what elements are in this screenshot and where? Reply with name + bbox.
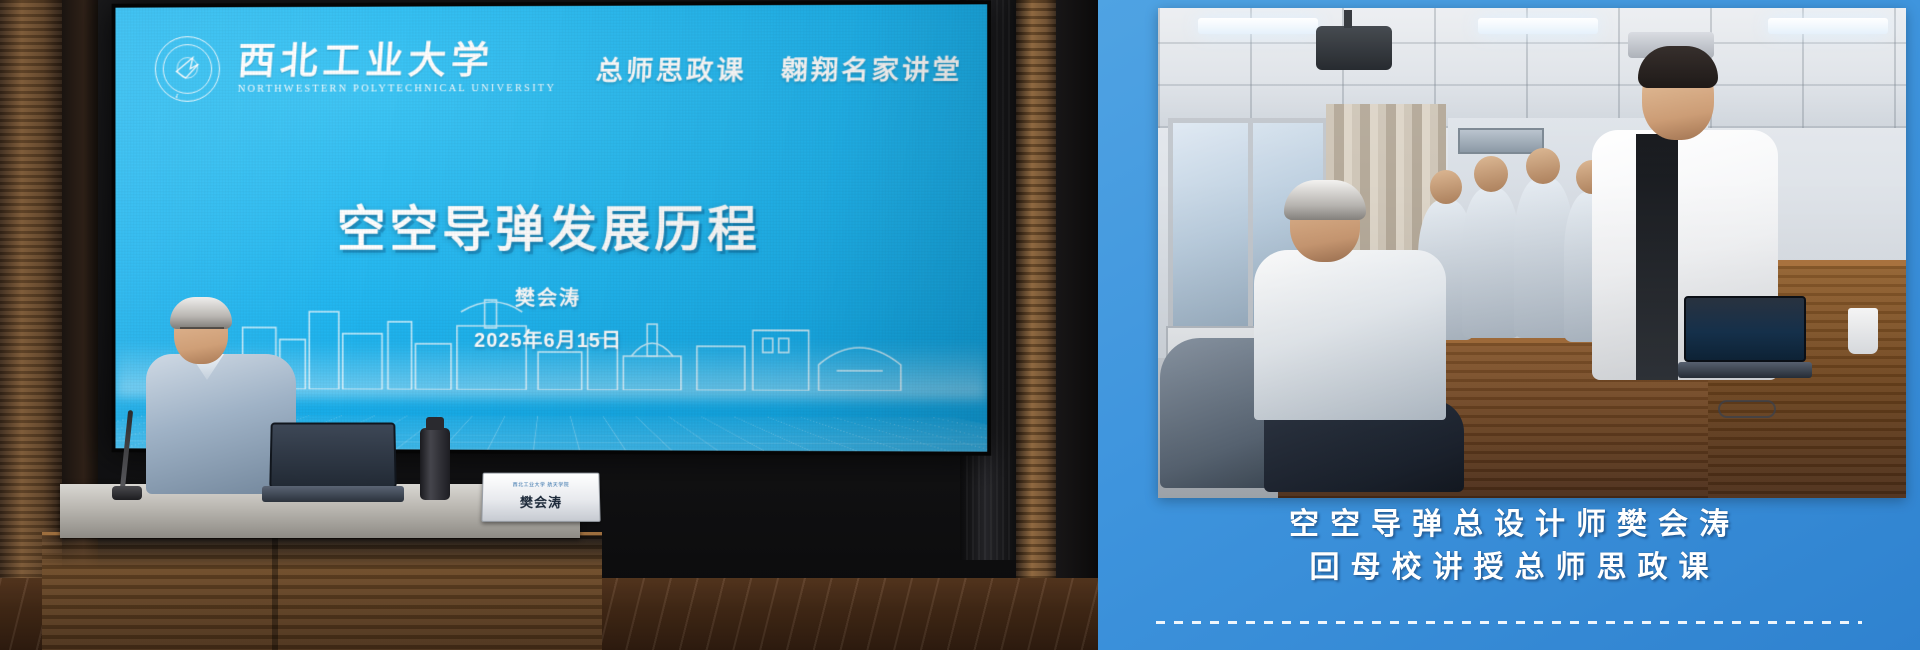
dotted-divider [1156, 621, 1862, 624]
left-panel-lecture-hall: 西北工业大学 NORTHWESTERN POLYTECHNICAL UNIVER… [0, 0, 1098, 650]
npu-university-seal-icon [155, 36, 220, 102]
speaker-signing [1254, 188, 1444, 488]
laptop-lid [269, 423, 396, 489]
classroom-photo [1158, 8, 1906, 498]
ceiling-light-3 [1768, 18, 1888, 34]
speaker-hair [170, 297, 232, 329]
photo-laptop-lid [1684, 296, 1806, 362]
crowd-body-2 [1462, 188, 1520, 338]
wall-dark-right [1056, 0, 1098, 650]
eyeglasses-on-desk-icon [1718, 400, 1776, 418]
slide-header: 西北工业大学 NORTHWESTERN POLYTECHNICAL UNIVER… [155, 19, 959, 117]
speaker-glasses-icon [180, 327, 224, 337]
ceiling-light-2 [1478, 18, 1598, 34]
desk-laptop [262, 424, 402, 502]
wall-wood-panel-right [1016, 0, 1056, 650]
photo-laptop-base [1678, 362, 1812, 378]
ceiling-light-1 [1198, 18, 1318, 34]
ceiling-projector [1316, 26, 1392, 70]
slide-title: 空空导弹发展历程 [115, 190, 987, 262]
screenshot-root: 西北工业大学 NORTHWESTERN POLYTECHNICAL UNIVER… [0, 0, 1920, 650]
lecture-desk-front [42, 532, 602, 650]
header-tag-sizhengke: 总师思政课 [595, 48, 748, 88]
university-name-en: NORTHWESTERN POLYTECHNICAL UNIVERSITY [238, 84, 556, 95]
student-shirt-stripe [1636, 134, 1678, 380]
crowd-head-3 [1526, 148, 1560, 184]
nameplate-org: 西北工业大学 航天学院 [513, 483, 570, 488]
university-name-cn: 西北工业大学 [236, 41, 557, 80]
right-panel: 空空导弹总设计师樊会涛 回母校讲授总师思政课 [1098, 0, 1920, 650]
desk-nameplate: 西北工业大学 航天学院 樊会涛 [481, 473, 600, 522]
university-name-block: 西北工业大学 NORTHWESTERN POLYTECHNICAL UNIVER… [238, 41, 556, 95]
nameplate-name: 樊会涛 [520, 492, 562, 511]
student-hair [1638, 46, 1718, 88]
seal-emblem-icon [173, 53, 203, 83]
header-tag-lecture-series: 翱翔名家讲堂 [780, 47, 964, 87]
caption-line-2: 回母校讲授总师思政课 [1098, 547, 1920, 590]
caption-line-1: 空空导弹总设计师樊会涛 [1098, 504, 1920, 547]
caption-block: 空空导弹总设计师樊会涛 回母校讲授总师思政课 [1098, 504, 1920, 589]
water-bottle [420, 428, 450, 500]
speaker-hair-right [1284, 180, 1366, 220]
slide-header-tags: 总师思政课 翱翔名家讲堂 [596, 47, 963, 87]
student-foreground [1588, 56, 1778, 496]
microphone-base [112, 486, 142, 500]
paper-cup [1848, 308, 1878, 354]
photo-laptop [1678, 294, 1808, 378]
desk-microphone [112, 408, 142, 500]
crowd-head-2 [1474, 156, 1508, 192]
speaker-shirt [1254, 250, 1446, 420]
laptop-base [262, 486, 404, 502]
microphone-stalk [120, 410, 133, 490]
